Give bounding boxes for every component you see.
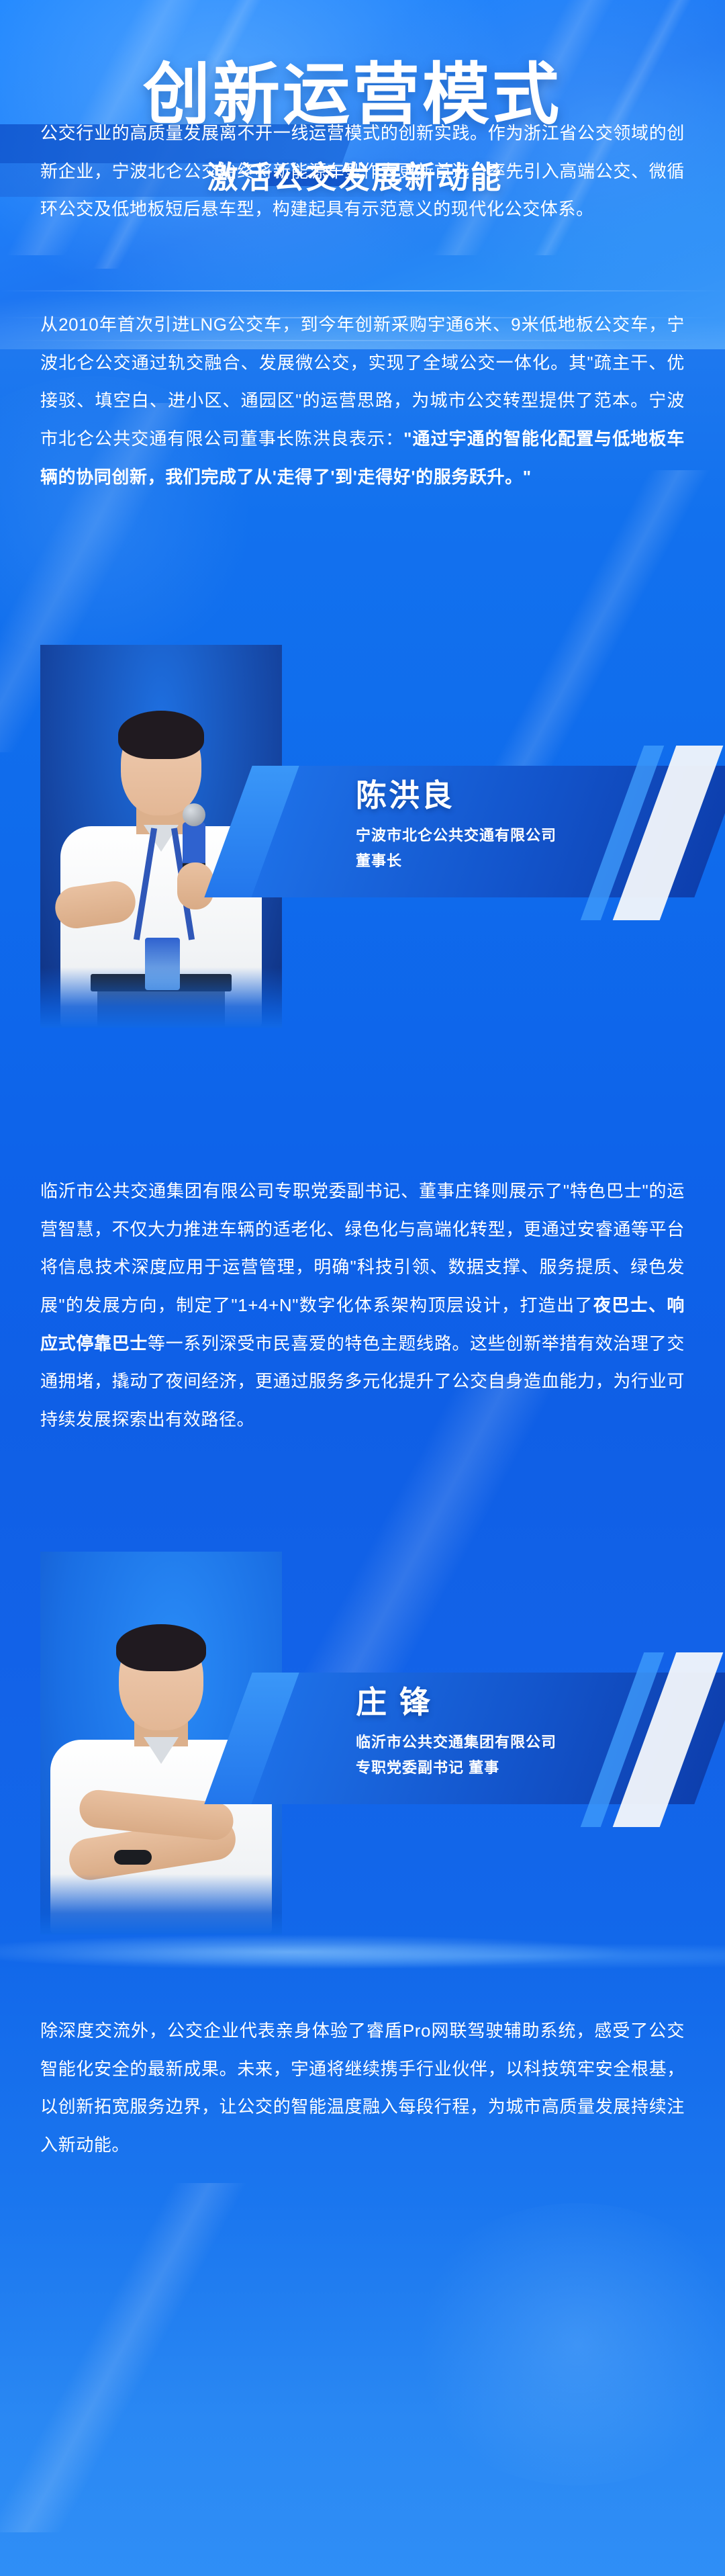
nameplate-text-group: 庄 锋 临沂市公共交通集团有限公司 专职党委副书记 董事 (356, 1685, 678, 1781)
light-streak (0, 2183, 247, 2532)
speaker-name: 庄 锋 (356, 1685, 678, 1720)
person-collar (144, 1737, 179, 1764)
profile-card-chen-hongliang: 陈洪良 宁波市北仑公共交通有限公司 董事长 (0, 645, 725, 1048)
paragraph-closing: 除深度交流外，公交企业代表亲身体验了睿盾Pro网联驾驶辅助系统，感受了公交智能化… (40, 2012, 685, 2164)
section-wave-divider (0, 1932, 725, 1972)
wave-line (0, 290, 725, 292)
poster-page: 创新运营模式 激活公交发展新动能 公交行业的高质量发展离不开一线运营模式的创新实… (0, 0, 725, 2576)
speaker-org: 宁波市北仑公共交通有限公司 (356, 823, 678, 849)
nameplate-text-group: 陈洪良 宁波市北仑公共交通有限公司 董事长 (356, 778, 678, 875)
person-hair (118, 711, 204, 759)
nameplate-chen-hongliang: 陈洪良 宁波市北仑公共交通有限公司 董事长 (201, 645, 725, 1028)
speaker-name: 陈洪良 (356, 778, 678, 813)
nameplate-zhuang-feng: 庄 锋 临沂市公共交通集团有限公司 专职党委副书记 董事 (201, 1552, 725, 1935)
person-hair (116, 1624, 206, 1671)
speaker-org: 临沂市公共交通集团有限公司 (356, 1730, 678, 1756)
wristwatch (114, 1850, 152, 1865)
profile-card-zhuang-feng: 庄 锋 临沂市公共交通集团有限公司 专职党委副书记 董事 (0, 1552, 725, 1955)
speaker-role: 专职党委副书记 董事 (356, 1755, 678, 1781)
paragraph-ningbo: 从2010年首次引进LNG公交车，到今年创新采购宇通6米、9米低地板公交车，宁波… (40, 306, 685, 496)
speaker-role: 董事长 (356, 848, 678, 875)
paragraph-intro: 公交行业的高质量发展离不开一线运营模式的创新实践。作为浙江省公交领域的创新企业，… (40, 114, 685, 228)
paragraph-linyi: 临沂市公共交通集团有限公司专职党委副书记、董事庄锋则展示了"特色巴士"的运营智慧… (40, 1172, 685, 1439)
paragraph-linyi-lead: 临沂市公共交通集团有限公司专职党委副书记、董事庄锋则展示了"特色巴士"的运营智慧… (40, 1181, 685, 1315)
background-glow (403, 2203, 725, 2485)
